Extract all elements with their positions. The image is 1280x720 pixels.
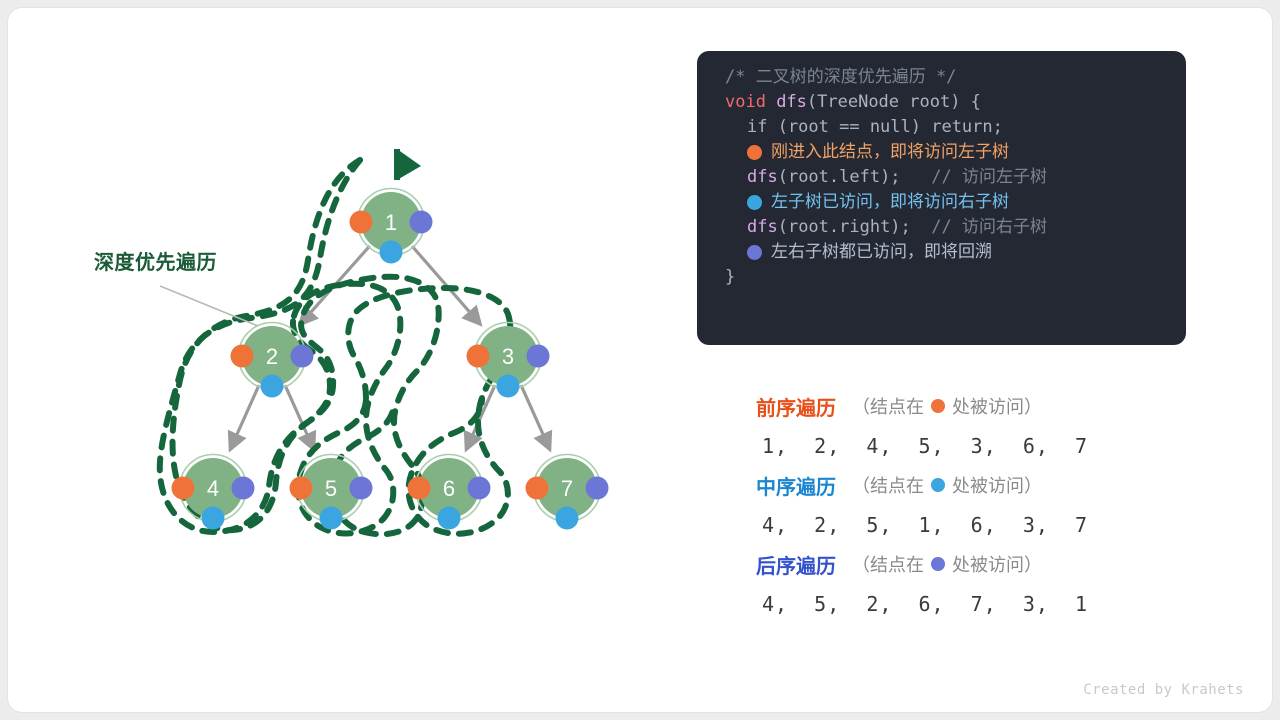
node-marker-preorder-dot [467,345,490,368]
tree-edge [521,385,550,449]
code-token: void [725,90,776,115]
code-token: 左右子树都已访问，即将回溯 [771,240,992,265]
code-marker-dot-icon [747,145,762,160]
node-marker-postorder-dot [468,477,491,500]
node-marker-preorder-dot [350,211,373,234]
traversal-note-open: （结点在 [852,551,924,577]
node-marker-inorder-dot [438,507,461,530]
code-token: dfs [747,215,778,240]
node-marker-postorder-dot [232,477,255,500]
tree-node[interactable]: 7 [526,455,609,530]
node-marker-inorder-dot [320,507,343,530]
tree-node-label: 7 [561,476,573,501]
traversal-results: 前序遍历（结点在处被访问）1, 2, 4, 5, 3, 6, 7中序遍历（结点在… [756,390,1186,627]
traversal-heading: 前序遍历（结点在处被访问） [756,390,1186,422]
node-marker-preorder-dot [526,477,549,500]
tree-node[interactable]: 4 [172,455,255,530]
tree-node[interactable]: 3 [467,323,550,398]
traversal-marker-dot-icon [931,557,945,571]
node-marker-inorder-dot [556,507,579,530]
traversal-heading: 中序遍历（结点在处被访问） [756,469,1186,501]
code-token: (TreeNode root) { [807,90,981,115]
code-token: (root.left); [778,165,901,190]
dfs-label: 深度优先遍历 [94,246,217,275]
node-marker-inorder-dot [380,241,403,264]
tree-node-label: 3 [502,344,514,369]
code-token: (root.right); [778,215,911,240]
binary-tree-figure: 1234567 深度优先遍历 [8,8,688,712]
node-marker-preorder-dot [231,345,254,368]
code-token: // 访问左子树 [901,165,1047,190]
traversal-marker-dot-icon [931,399,945,413]
node-marker-inorder-dot [497,375,520,398]
code-token: dfs [747,165,778,190]
play-triangle-icon [394,149,421,180]
code-line: dfs(root.right); // 访问右子树 [697,215,1186,240]
code-block: /* 二叉树的深度优先遍历 */void dfs(TreeNode root) … [697,51,1186,345]
dfs-label-leader-line [160,286,258,326]
node-marker-postorder-dot [527,345,550,368]
traversal-name: 前序遍历 [756,392,836,421]
code-line: if (root == null) return; [697,115,1186,140]
traversal-note-close: 处被访问） [952,551,1042,577]
node-marker-postorder-dot [410,211,433,234]
code-line: /* 二叉树的深度优先遍历 */ [697,65,1186,90]
tree-node-label: 6 [443,476,455,501]
traversal-name: 后序遍历 [756,550,836,579]
traversal-group: 中序遍历（结点在处被访问）4, 2, 5, 1, 6, 3, 7 [756,469,1186,537]
traversal-group: 后序遍历（结点在处被访问）4, 5, 2, 6, 7, 3, 1 [756,548,1186,616]
traversal-sequence: 1, 2, 4, 5, 3, 6, 7 [762,434,1186,458]
code-token: dfs [776,90,807,115]
node-marker-postorder-dot [350,477,373,500]
node-marker-postorder-dot [586,477,609,500]
tree-svg: 1234567 [8,8,688,712]
code-line: 左右子树都已访问，即将回溯 [697,240,1186,265]
traversal-heading: 后序遍历（结点在处被访问） [756,548,1186,580]
code-token: if (root == null) return; [747,115,1003,140]
code-token: // 访问右子树 [911,215,1047,240]
traversal-marker-dot-icon [931,478,945,492]
code-token: /* 二叉树的深度优先遍历 */ [725,65,956,90]
code-token: } [725,265,735,290]
tree-edge [466,385,495,449]
traversal-sequence: 4, 5, 2, 6, 7, 3, 1 [762,592,1186,616]
node-marker-inorder-dot [202,507,225,530]
code-marker-dot-icon [747,245,762,260]
code-line: void dfs(TreeNode root) { [697,90,1186,115]
node-marker-preorder-dot [408,477,431,500]
node-marker-inorder-dot [261,375,284,398]
code-line: 左子树已访问，即将访问右子树 [697,190,1186,215]
diagram-canvas: 1234567 深度优先遍历 /* 二叉树的深度优先遍历 */void dfs(… [8,8,1272,712]
traversal-group: 前序遍历（结点在处被访问）1, 2, 4, 5, 3, 6, 7 [756,390,1186,458]
code-marker-dot-icon [747,195,762,210]
traversal-note: （结点在处被访问） [852,551,1042,577]
code-line: 刚进入此结点，即将访问左子树 [697,140,1186,165]
node-marker-preorder-dot [172,477,195,500]
traversal-note-close: 处被访问） [952,393,1042,419]
code-line: } [697,265,1186,290]
code-token: 左子树已访问，即将访问右子树 [771,190,1009,215]
tree-edge [230,385,259,449]
tree-node-label: 1 [385,210,397,235]
credit-footer: Created by Krahets [1083,682,1244,698]
tree-node-label: 5 [325,476,337,501]
code-token: 刚进入此结点，即将访问左子树 [771,140,1009,165]
tree-node-label: 2 [266,344,278,369]
node-marker-postorder-dot [291,345,314,368]
code-line: dfs(root.left); // 访问左子树 [697,165,1186,190]
node-marker-preorder-dot [290,477,313,500]
traversal-note-close: 处被访问） [952,472,1042,498]
traversal-note: （结点在处被访问） [852,393,1042,419]
tree-node-label: 4 [207,476,219,501]
traversal-name: 中序遍历 [756,471,836,500]
tree-node[interactable]: 1 [350,189,433,264]
traversal-note-open: （结点在 [852,472,924,498]
traversal-note-open: （结点在 [852,393,924,419]
traversal-note: （结点在处被访问） [852,472,1042,498]
traversal-sequence: 4, 2, 5, 1, 6, 3, 7 [762,513,1186,537]
